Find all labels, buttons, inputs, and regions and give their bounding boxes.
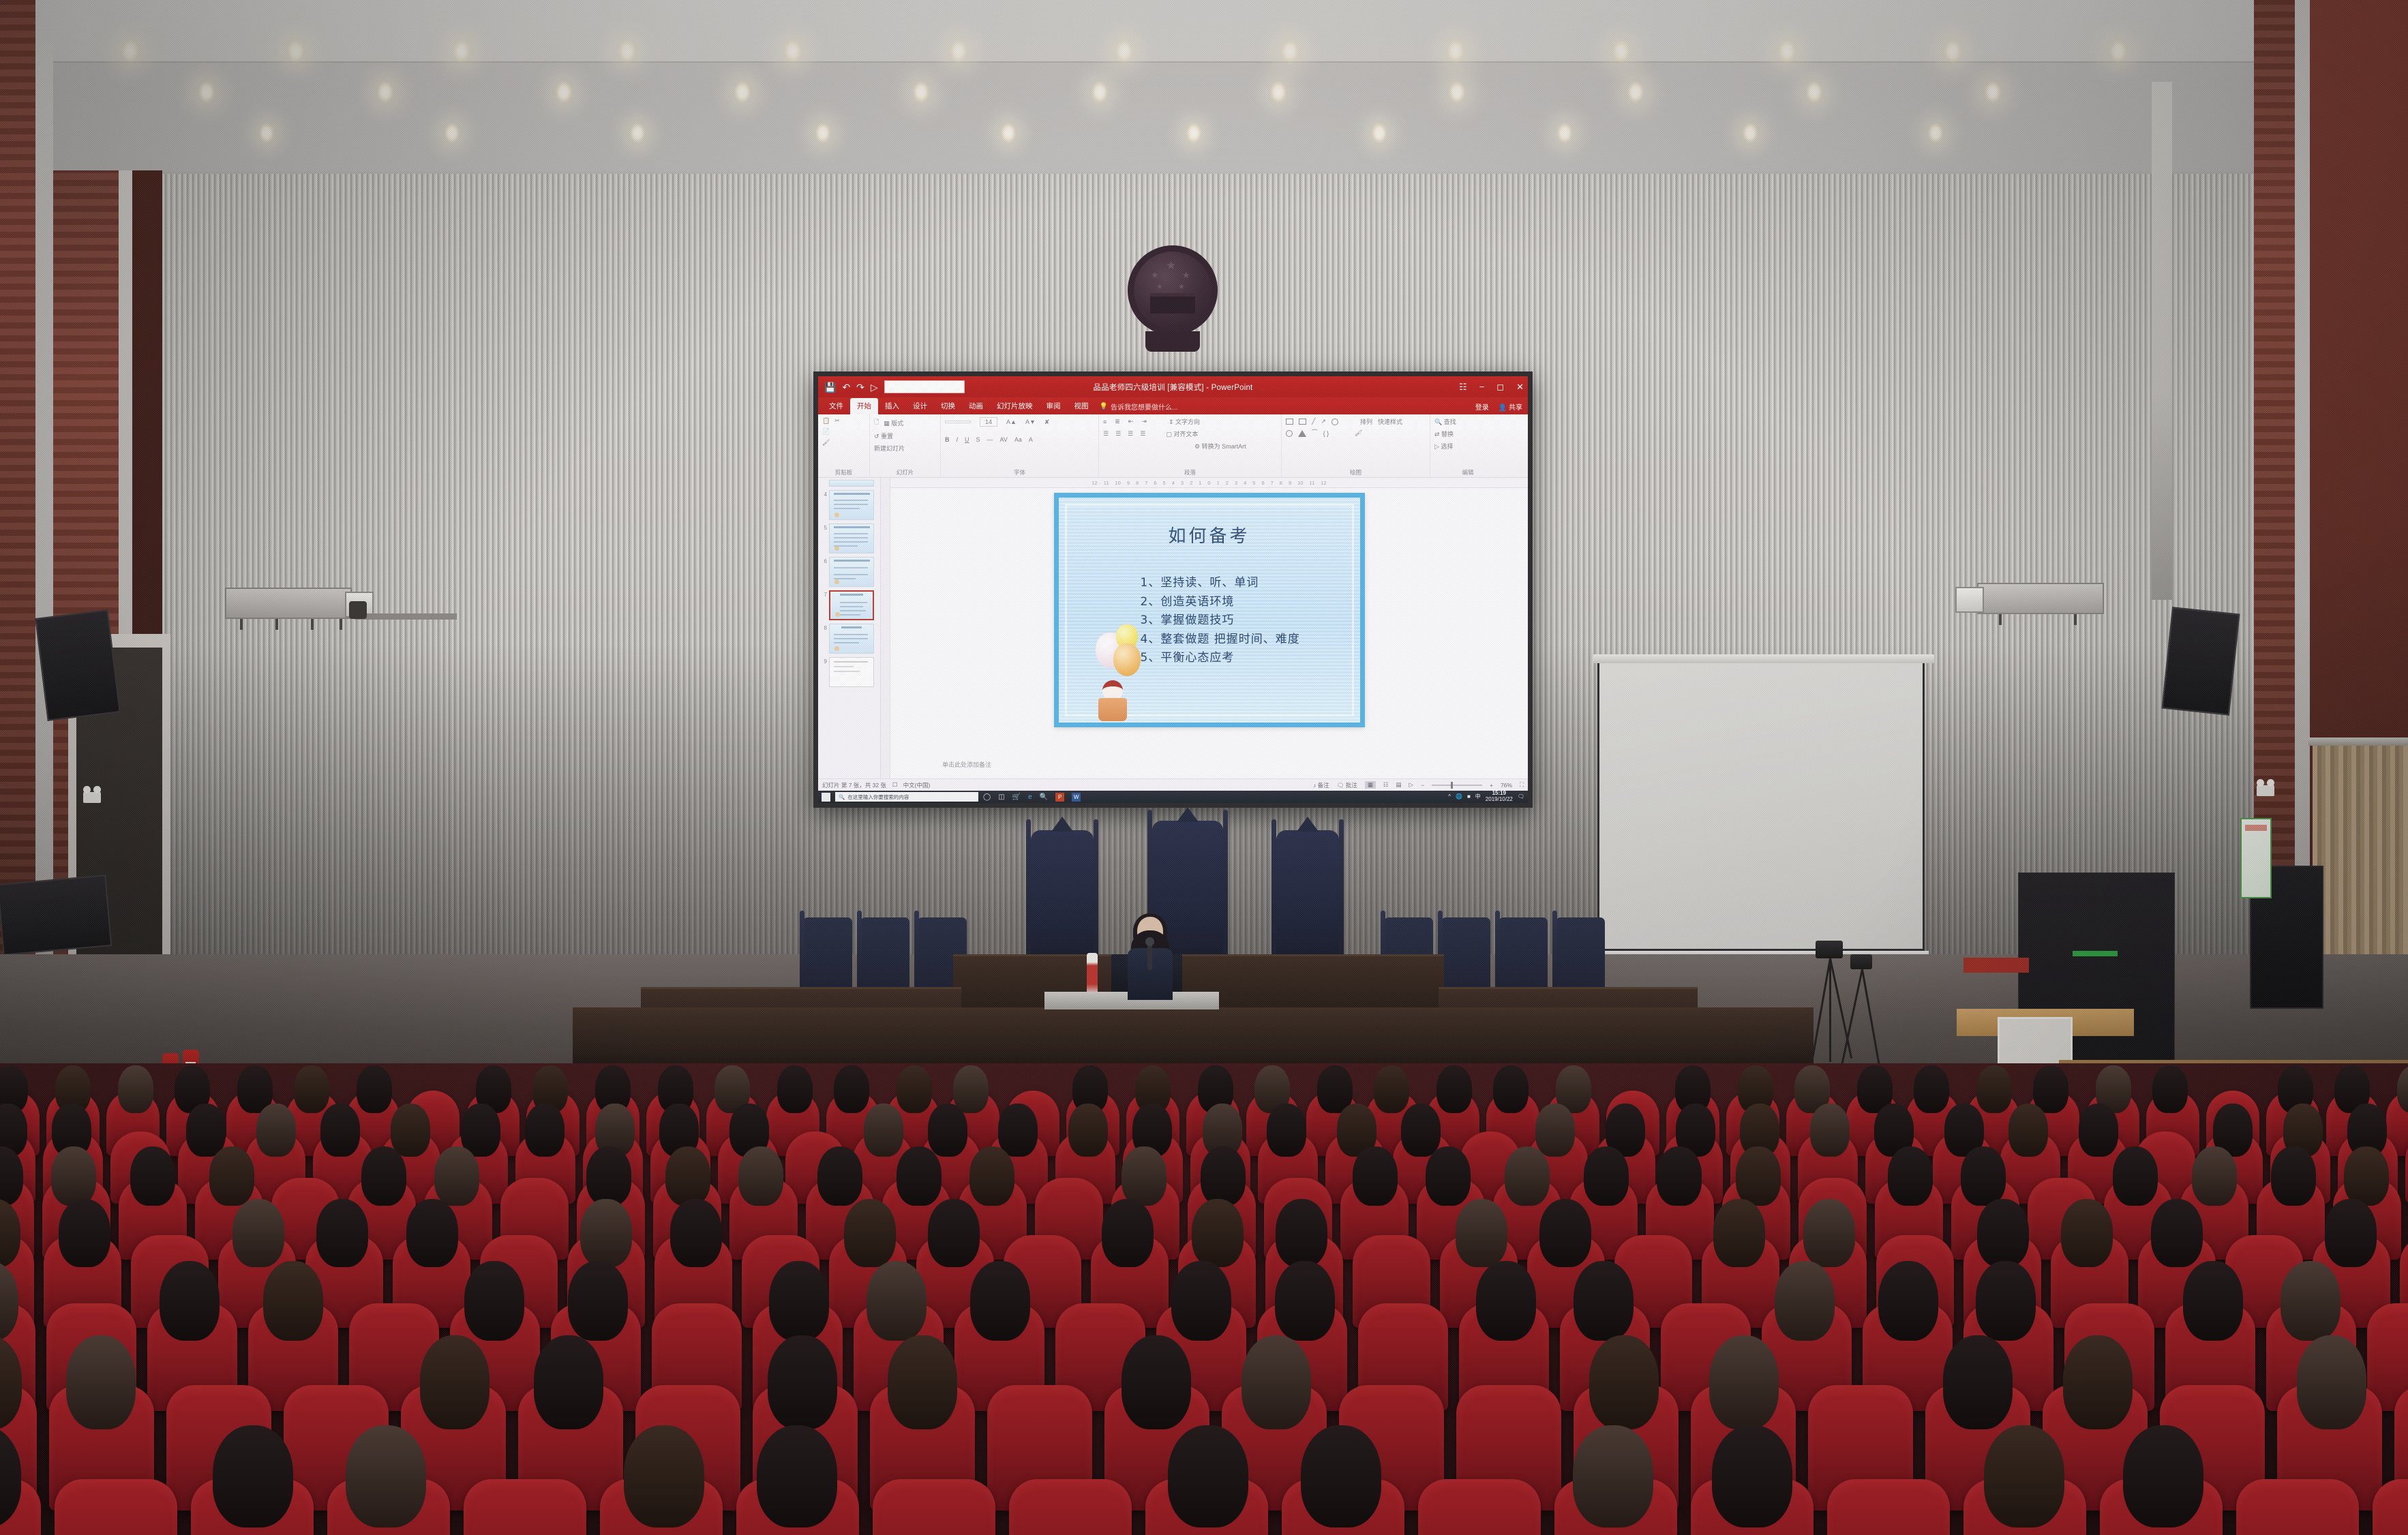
shape-triangle-icon[interactable] <box>1298 430 1306 437</box>
video-camera-1 <box>1816 941 1843 958</box>
loudspeaker-left-upper <box>35 609 121 721</box>
tab-file[interactable]: 文件 <box>822 398 850 414</box>
audience-person-head <box>897 1065 932 1113</box>
audience-person-head <box>738 1146 783 1206</box>
align-left-icon[interactable]: ☰ <box>1103 430 1109 438</box>
clock-date[interactable]: 2019/10/22 <box>1486 796 1513 802</box>
shape-circle2-icon[interactable] <box>1286 430 1293 437</box>
store-icon[interactable]: 🛒 <box>1012 793 1021 801</box>
audience-person-head <box>1584 1146 1629 1206</box>
balloon-orange-decor <box>1113 643 1141 676</box>
ruler-tick-10: 2 <box>1190 480 1192 486</box>
ceiling-light-1-8 <box>1627 81 1644 103</box>
powerpoint-window: 💾 ↶ ↷ ▷ 品品老师四六级培训 [兼容模式] - PowerPoint ☷ … <box>818 376 1528 803</box>
audience-person-head <box>1401 1104 1441 1157</box>
close-icon[interactable]: ✕ <box>1516 382 1524 393</box>
slide-editor[interactable]: 1211109876543210123456789101112 如何备考 1、坚… <box>881 478 1528 778</box>
thumb-image-top <box>829 480 874 487</box>
thumb-image-9[interactable] <box>829 657 874 687</box>
ppt-status-bar[interactable]: 幻灯片 第 7 张，共 32 张 ☐ 中文(中国) ♪ 备注 🗨 批注 ▦ ☷ … <box>818 778 1528 791</box>
thumb-number-9: 9 <box>821 657 827 665</box>
increase-indent-icon[interactable]: ⇥ <box>1141 418 1147 425</box>
audience-person-head <box>1914 1065 1949 1113</box>
increase-font-icon[interactable]: A▲ <box>1006 419 1017 425</box>
ceiling-light-0-9 <box>1612 40 1630 63</box>
task-view-icon[interactable]: ◫ <box>998 793 1004 801</box>
taskbar-tray[interactable]: ^ 🌐 ■ 中 15:19 2019/10/22 🗨 <box>1448 791 1524 803</box>
ruler-tick-21: 9 <box>1289 480 1291 486</box>
ruler-tick-22: 10 <box>1297 480 1303 486</box>
decrease-font-icon[interactable]: A▼ <box>1025 419 1036 425</box>
audience-seat <box>55 1479 177 1535</box>
water-bottle <box>1087 953 1098 995</box>
slide-bullet-3: 3、掌握做题技巧 <box>1141 611 1300 630</box>
main-projection-screen-frame: 💾 ↶ ↷ ▷ 品品老师四六级培训 [兼容模式] - PowerPoint ☷ … <box>813 371 1533 808</box>
clock-time[interactable]: 15:19 <box>1492 790 1506 796</box>
taskbar-search-input[interactable]: 🔍 在这里输入你要搜索的内容 <box>835 792 978 802</box>
sign-in-label[interactable]: 登录 <box>1475 401 1489 412</box>
spell-check-icon[interactable]: ☐ <box>892 781 898 789</box>
redo-icon[interactable]: ↷ <box>856 382 864 392</box>
select-icon[interactable]: ▷ 选择 <box>1434 442 1453 451</box>
vertical-ruler <box>881 478 890 778</box>
projector-mount-r1 <box>1999 614 2002 625</box>
slide-thumbnail-7[interactable]: 7 <box>821 590 879 620</box>
align-right-icon[interactable]: ☰ <box>1128 430 1133 438</box>
thumb-number-7: 7 <box>821 590 827 598</box>
audience-person-head <box>1275 1261 1335 1341</box>
presidium-chair-crown-1 <box>1177 807 1199 822</box>
audience-person-head <box>2183 1261 2243 1341</box>
audience-person-head <box>1878 1261 1938 1341</box>
audience-person-head <box>769 1261 829 1341</box>
reset-icon[interactable]: ↺ 重置 <box>874 431 893 440</box>
ceiling-light-2-5 <box>1186 123 1202 143</box>
side-screen-housing <box>1593 654 1934 663</box>
tab-review[interactable]: 审阅 <box>1040 398 1068 414</box>
save-icon[interactable]: 💾 <box>824 382 836 392</box>
italic-icon[interactable]: I <box>957 436 959 443</box>
audience-seat <box>1009 1479 1132 1535</box>
notes-button[interactable]: ♪ 备注 <box>1313 781 1329 789</box>
thumb-image-6[interactable] <box>829 557 874 587</box>
slide-thumbnail-4[interactable]: 4 <box>821 490 879 520</box>
battery-icon[interactable]: ■ <box>1467 793 1471 800</box>
ceiling-light-1-0 <box>198 81 215 103</box>
thumb-image-7-selected[interactable] <box>829 590 874 620</box>
audience-person-head <box>1976 1261 2036 1341</box>
audience-person-head <box>2061 1199 2113 1267</box>
presenter-person <box>1125 917 1175 1000</box>
strikethrough-icon[interactable]: — <box>987 436 993 443</box>
ceiling-light-0-3 <box>618 40 636 63</box>
cut-icon[interactable]: ✂ <box>834 417 840 425</box>
ceiling-light-2-4 <box>1001 123 1017 143</box>
audience-person-head <box>953 1065 989 1113</box>
projector-mount-3 <box>311 619 314 630</box>
change-case-icon[interactable]: Aa <box>1014 436 1022 443</box>
ime-chinese-icon[interactable]: 中 <box>1475 793 1481 800</box>
replace-icon[interactable]: ⇄ 替换 <box>1434 429 1454 438</box>
child-illustration-body <box>1098 698 1127 721</box>
decrease-indent-icon[interactable]: ⇤ <box>1128 418 1134 425</box>
ruler-tick-4: 8 <box>1136 480 1139 486</box>
convert-smartart-icon[interactable]: ⚙ 转换为 SmartArt <box>1194 442 1246 451</box>
audience-person-head <box>1888 1146 1933 1206</box>
ruler-tick-8: 4 <box>1172 480 1175 486</box>
ribbon-group-drawing[interactable]: ╱ ↗ 排列 快速样式 ⏜ { } 🖌 绘图 <box>1282 414 1430 478</box>
thumb-image-8[interactable] <box>829 624 874 654</box>
font-color-icon[interactable]: A <box>1029 436 1033 443</box>
emergency-light-right <box>2257 785 2274 796</box>
show-hidden-icon[interactable]: ^ <box>1448 793 1451 800</box>
audience-person-head <box>1984 1425 2064 1528</box>
undo-icon[interactable]: ↶ <box>842 382 850 392</box>
slide-bullet-2: 2、创造英语环境 <box>1141 593 1300 612</box>
audience-person-head <box>998 1104 1038 1157</box>
powerpoint-icon[interactable]: P <box>1055 793 1064 802</box>
ribbon-group-font[interactable]: 14 A▲ A▼ ✘ B I U S — AV Aa A <box>941 414 1099 478</box>
audience-person-head <box>970 1261 1030 1341</box>
audience-person-head <box>1301 1425 1381 1528</box>
ceiling-top-band <box>0 0 2408 63</box>
view-normal-icon[interactable]: ▦ <box>1365 781 1376 789</box>
audience-person-head <box>1803 1199 1855 1267</box>
ribbon-display-options-icon[interactable]: ☷ <box>1459 382 1467 393</box>
audience-person-head <box>777 1065 813 1113</box>
presidium-chair-post-1-1 <box>1223 810 1228 967</box>
audience-person-head <box>534 1335 603 1429</box>
audience-person-head <box>130 1146 175 1206</box>
audience-person-head <box>1535 1104 1575 1157</box>
ceiling-light-2-3 <box>815 123 831 143</box>
account-area[interactable]: 登录 👤 共享 <box>1475 401 1522 412</box>
audience-person-head <box>2271 1146 2316 1206</box>
audience-person-head <box>897 1146 942 1206</box>
start-icon[interactable] <box>822 793 830 802</box>
tab-animations[interactable]: 动画 <box>962 398 990 414</box>
windows-taskbar[interactable]: 🔍 在这里输入你要搜索的内容 ◯ ◫ 🛒 e 🔍 P W ^ 🌐 <box>818 791 1528 803</box>
notes-placeholder[interactable]: 单击此处添加备注 <box>890 757 1528 778</box>
align-text-icon[interactable]: ▢ 对齐文本 <box>1166 429 1198 438</box>
audience-person-head <box>1943 1335 2013 1429</box>
tab-home[interactable]: 开始 <box>850 398 878 414</box>
ceiling-light-1-10 <box>1985 81 2002 103</box>
audience-person-head <box>928 1199 980 1267</box>
underline-icon[interactable]: U <box>965 436 969 443</box>
tell-me-box[interactable]: 💡 告诉我您想要做什么... <box>1096 399 1182 414</box>
ribbon-group-paragraph[interactable]: ≡ ≣ ⇤ ⇥ ⇕ 文字方向 ☰ ☰ ☰ ☰ ▢ 对齐文本 ⚙ 转换为 Smar… <box>1099 414 1282 478</box>
audience-seat <box>1418 1479 1541 1535</box>
presidium-chair-side-post-2 <box>914 911 919 999</box>
ceiling-light-0-5 <box>950 40 967 63</box>
audience-person-head <box>2123 1425 2203 1528</box>
audience-person-head <box>1976 1065 2012 1113</box>
ceiling-light-1-7 <box>1449 81 1466 103</box>
tab-transitions[interactable]: 切换 <box>934 398 962 414</box>
ceiling-light-0-2 <box>453 40 470 63</box>
search-placeholder: 在这里输入你要搜索的内容 <box>847 793 909 801</box>
view-sorter-icon[interactable]: ☷ <box>1383 781 1389 789</box>
slide-thumbnail-6[interactable]: 6 <box>821 557 879 587</box>
ceiling-light-2-6 <box>1372 123 1387 143</box>
minimize-icon[interactable]: − <box>1479 382 1485 392</box>
audience-person-head <box>1102 1199 1154 1267</box>
projector-left <box>225 588 352 619</box>
shape-rect2-icon[interactable] <box>1299 419 1306 425</box>
audience-person-head <box>346 1425 426 1528</box>
ceiling-light-2-1 <box>445 123 460 143</box>
ceiling-light-0-12 <box>2109 40 2127 63</box>
tab-insert[interactable]: 插入 <box>878 398 906 414</box>
quick-access-toolbar[interactable]: 💾 ↶ ↷ ▷ <box>818 380 965 393</box>
tab-design[interactable]: 设计 <box>906 398 934 414</box>
audience-person-head <box>294 1065 329 1113</box>
slide-bullet-1: 1、坚持读、听、单词 <box>1141 574 1300 593</box>
audience-person-head <box>2325 1199 2377 1267</box>
ruler-tick-15: 3 <box>1235 480 1237 486</box>
format-painter-icon[interactable]: 🖌 <box>822 439 830 446</box>
audience-seat <box>2236 1479 2359 1535</box>
ppt-ribbon[interactable]: 📋✂ 📄 🖌 剪贴板 🗋▦ 版式 ↺ 重置 新建幻灯片 幻灯片 14 A▲ <box>818 414 1528 478</box>
window-controls[interactable]: ☷ − ◻ ✕ <box>1459 382 1524 393</box>
shape-line-icon[interactable]: ╱ <box>1312 418 1315 425</box>
shape-brace-icon[interactable]: { } <box>1323 430 1329 437</box>
ruler-tick-24: 12 <box>1321 480 1326 486</box>
tab-slideshow[interactable]: 幻灯片放映 <box>990 398 1040 414</box>
video-camera-2 <box>1850 954 1872 969</box>
slide-thumbnail-5[interactable]: 5 <box>821 523 879 553</box>
slide-thumbnail-9[interactable]: 9 <box>821 657 879 687</box>
audience-person-head <box>928 1104 967 1157</box>
slide-thumbnail-pane[interactable]: 4 5 6 <box>818 478 881 778</box>
emblem-star-2: ★ <box>1182 270 1190 281</box>
auditorium-scene: ★ ★ ★ ★ ★ 💾 ↶ ↷ <box>0 0 2408 1535</box>
layout-icon[interactable]: ▦ 版式 <box>884 419 903 427</box>
audience-person-head <box>768 1335 837 1429</box>
ppt-ribbon-tabs[interactable]: 文件 开始 插入 设计 切换 动画 幻灯片放映 审阅 视图 💡 告诉我您想要做什… <box>818 397 1528 414</box>
slide-bullet-5: 5、平衡心态应考 <box>1141 649 1300 668</box>
taskbar-pinned-apps[interactable]: ◯ ◫ 🛒 e 🔍 P W <box>983 793 1081 802</box>
align-center-icon[interactable]: ☰ <box>1115 430 1121 438</box>
restore-icon[interactable]: ◻ <box>1496 382 1504 393</box>
slide-canvas-area[interactable]: 如何备考 1、坚持读、听、单词 2、创造英语环境 3、掌握做题技巧 4、整套做题… <box>890 488 1528 757</box>
ruler-tick-3: 9 <box>1127 480 1130 486</box>
audience-person-head <box>464 1261 524 1341</box>
language-label[interactable]: 中文(中国) <box>903 781 931 789</box>
status-right-cluster[interactable]: ♪ 备注 🗨 批注 ▦ ☷ ▤ ▷ − + 76% ⛶ <box>1313 781 1524 789</box>
thumb-image-4[interactable] <box>829 490 874 520</box>
audience-person-head <box>1573 1425 1653 1528</box>
font-size-box[interactable]: 14 <box>980 417 997 427</box>
ceiling-light-1-6 <box>1270 81 1287 103</box>
ribbon-group-slides[interactable]: 🗋▦ 版式 ↺ 重置 新建幻灯片 幻灯片 <box>870 414 941 478</box>
quick-access-input[interactable] <box>884 380 965 393</box>
audience-person-head <box>2152 1065 2188 1113</box>
ceiling-light-0-6 <box>1115 40 1133 63</box>
projector-right <box>1977 583 2104 614</box>
start-slideshow-icon[interactable]: ▷ <box>871 382 878 392</box>
audience-seat <box>873 1479 995 1535</box>
audience-person-head <box>1589 1335 1659 1429</box>
audience-person-head <box>2063 1335 2133 1429</box>
slide-thumbnail-8[interactable]: 8 <box>821 624 879 654</box>
security-camera-left <box>349 601 367 619</box>
tripod-leg-2b <box>1861 969 1880 1067</box>
ceiling-light-0-7 <box>1281 40 1299 63</box>
audience-person-head <box>1353 1146 1398 1206</box>
copy-icon[interactable]: 📄 <box>822 428 830 436</box>
view-slideshow-icon[interactable]: ▷ <box>1409 781 1414 789</box>
audience-person-head <box>263 1261 323 1341</box>
plaster-strip-left <box>35 41 53 1002</box>
slide-thumbnail-partial[interactable] <box>821 480 879 487</box>
projector-lens-right <box>1955 587 1984 613</box>
audience-person-head <box>66 1335 136 1429</box>
new-slide-icon[interactable]: 🗋 <box>874 417 879 428</box>
audience-person-head <box>1539 1199 1591 1267</box>
word-icon[interactable]: W <box>1072 793 1081 802</box>
ruler-tick-12: 0 <box>1207 480 1210 486</box>
ceiling-light-1-3 <box>734 81 751 103</box>
ribbon-group-label-clipboard: 剪贴板 <box>818 468 869 476</box>
audience-person-head <box>1436 1065 1472 1113</box>
ruler-tick-9: 3 <box>1181 480 1184 486</box>
ribbon-group-editing[interactable]: 🔍 查找 ⇄ 替换 ▷ 选择 编辑 <box>1430 414 1505 478</box>
audience-person-head <box>1713 1199 1765 1267</box>
projector-mount-4 <box>340 619 342 630</box>
bullets-icon[interactable]: ≡ <box>1103 419 1107 425</box>
presidium-chair-side-post-0 <box>800 911 804 999</box>
emblem-star-3: ★ <box>1156 282 1163 291</box>
audience-person-head <box>1192 1199 1244 1267</box>
audience-person-head <box>51 1146 96 1206</box>
audience-person-head <box>1068 1104 1108 1157</box>
action-center-icon[interactable]: 🗨 <box>1518 793 1524 800</box>
search-taskbar-icon[interactable]: 🔍 <box>1040 793 1048 801</box>
zoom-in-button[interactable]: + <box>1490 782 1493 789</box>
font-name-box[interactable] <box>945 421 971 423</box>
ruler-tick-0: 12 <box>1092 480 1097 486</box>
audience-person-head <box>757 1425 837 1528</box>
shape-rect-icon[interactable] <box>1286 419 1293 425</box>
paste-icon[interactable]: 📋 <box>822 417 830 425</box>
emblem-wheat-base <box>1145 331 1200 352</box>
justify-icon[interactable]: ☰ <box>1140 430 1145 438</box>
shape-connector-icon[interactable]: ⏜ <box>1312 429 1318 437</box>
shadow-icon[interactable]: S <box>976 436 980 443</box>
shape-fill-icon[interactable]: 🖌 <box>1355 429 1362 437</box>
audience-person-head <box>844 1199 896 1267</box>
bold-icon[interactable]: B <box>945 436 950 443</box>
tripod-leg-1a <box>1811 958 1831 1059</box>
slide-bullet-list: 1、坚持读、听、单词 2、创造英语环境 3、掌握做题技巧 4、整套做题 把握时间… <box>1141 574 1300 668</box>
audience-person-head <box>1736 1146 1781 1206</box>
ruler-tick-5: 7 <box>1145 480 1147 486</box>
thumb-image-5[interactable] <box>829 523 874 553</box>
quick-styles-icon[interactable]: 快速样式 <box>1378 417 1402 426</box>
audience-person-head <box>59 1199 110 1267</box>
notice-poster-green <box>2240 818 2272 898</box>
ruler-tick-13: 1 <box>1217 480 1220 486</box>
presidium-front-panel <box>573 1007 1813 1067</box>
ceiling-light-2-9 <box>1928 123 1944 143</box>
ceiling-light-0-0 <box>121 40 139 63</box>
tab-view[interactable]: 视图 <box>1068 398 1096 414</box>
arrange-icon[interactable]: 排列 <box>1360 417 1372 426</box>
shape-arrow-icon[interactable]: ↗ <box>1321 418 1326 425</box>
audience-person-head <box>580 1199 632 1267</box>
av-monitor <box>1998 1017 2073 1066</box>
fit-to-window-icon[interactable]: ⛶ <box>1520 781 1524 789</box>
text-direction-icon[interactable]: ⇕ 文字方向 <box>1169 417 1200 426</box>
audience-person-head <box>817 1146 862 1206</box>
ribbon-group-label-editing: 编辑 <box>1430 468 1505 476</box>
audience-person-head <box>118 1065 153 1113</box>
audience-person-head <box>209 1146 254 1206</box>
presidium-chair-crown-2 <box>1297 817 1319 832</box>
audience-person-head <box>867 1261 927 1341</box>
side-projection-screen <box>1597 663 1925 951</box>
slide-title: 如何备考 <box>1059 522 1360 547</box>
ppt-title-bar: 💾 ↶ ↷ ▷ 品品老师四六级培训 [兼容模式] - PowerPoint ☷ … <box>818 376 1528 397</box>
projector-mount-r2 <box>2074 614 2077 625</box>
ppt-workspace: 4 5 6 <box>818 478 1528 778</box>
cortana-icon[interactable]: ◯ <box>983 793 991 801</box>
shape-ellipse-icon[interactable] <box>1331 419 1338 425</box>
ceiling-light-1-2 <box>556 81 573 103</box>
audience-person-head <box>888 1335 957 1429</box>
ceiling-light-1-1 <box>377 81 394 103</box>
network-icon[interactable]: 🌐 <box>1456 793 1462 800</box>
audience-seat <box>464 1479 586 1535</box>
ribbon-group-clipboard[interactable]: 📋✂ 📄 🖌 剪贴板 <box>818 414 870 478</box>
zoom-slider[interactable] <box>1432 785 1482 786</box>
ceiling-light-2-8 <box>1743 123 1758 143</box>
thumb-number-6: 6 <box>821 557 827 564</box>
clear-format-icon[interactable]: ✘ <box>1044 419 1050 426</box>
audience-person-head <box>1374 1065 1409 1113</box>
share-label[interactable]: 👤 共享 <box>1499 401 1522 412</box>
audience-person-head <box>1267 1104 1306 1157</box>
view-reading-icon[interactable]: ▤ <box>1396 781 1402 789</box>
audience-person-head <box>1456 1199 1507 1267</box>
comments-button[interactable]: 🗨 批注 <box>1337 781 1357 789</box>
ribbon-group-label-slides: 幻灯片 <box>870 468 940 476</box>
ceiling-light-1-5 <box>1092 81 1109 103</box>
edge-icon[interactable]: e <box>1028 793 1032 801</box>
new-slide-label[interactable]: 新建幻灯片 <box>874 444 905 453</box>
zoom-level-label[interactable]: 76% <box>1501 782 1512 789</box>
audience-person-head <box>420 1335 490 1429</box>
find-icon[interactable]: 🔍 查找 <box>1434 417 1456 426</box>
ruler-tick-1: 11 <box>1104 480 1109 486</box>
ceiling-light-1-9 <box>1806 81 1823 103</box>
zoom-out-button[interactable]: − <box>1421 782 1424 789</box>
numbering-icon[interactable]: ≣ <box>1115 418 1120 425</box>
plaster-strip-right <box>2295 0 2310 1002</box>
emblem-tiananmen-gate <box>1150 293 1195 314</box>
audience-person-head <box>406 1199 458 1267</box>
ruler-tick-14: 2 <box>1226 480 1229 486</box>
character-spacing-icon[interactable]: AV <box>1000 436 1008 443</box>
plaster-strip-upper-right <box>2152 82 2172 600</box>
current-slide[interactable]: 如何备考 1、坚持读、听、单词 2、创造英语环境 3、掌握做题技巧 4、整套做题… <box>1054 493 1365 727</box>
audience-person-head <box>320 1104 360 1157</box>
ruler-tick-11: 1 <box>1199 480 1201 486</box>
curtain-rod <box>2308 738 2408 746</box>
audience-person-head <box>232 1199 284 1267</box>
